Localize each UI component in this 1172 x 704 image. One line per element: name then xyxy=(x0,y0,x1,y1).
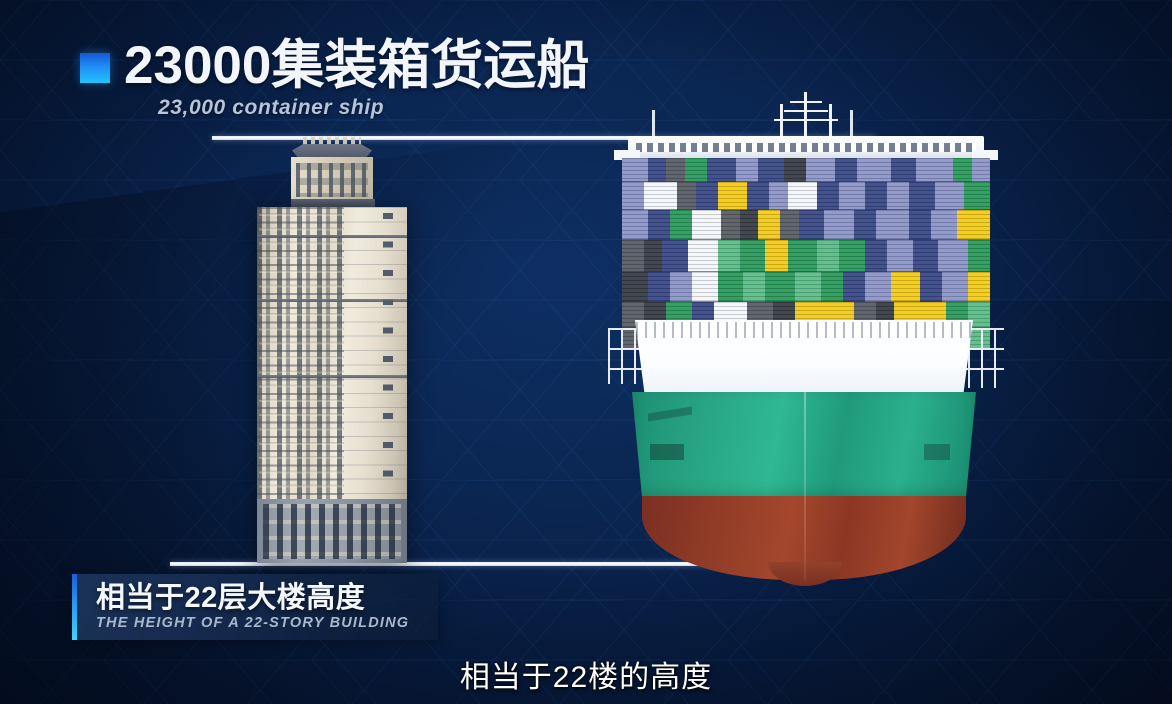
container-box xyxy=(913,240,939,272)
container-box xyxy=(865,240,887,272)
container-box xyxy=(788,182,817,210)
container-row xyxy=(622,158,990,182)
container-box xyxy=(942,272,968,302)
container-box xyxy=(758,210,780,240)
container-box xyxy=(876,210,909,240)
ship-stem-centerline xyxy=(804,390,806,580)
container-box xyxy=(696,182,718,210)
container-box xyxy=(692,210,721,240)
container-box xyxy=(622,182,644,210)
container-box xyxy=(622,210,648,240)
container-box xyxy=(968,240,990,272)
container-box xyxy=(865,182,887,210)
container-box xyxy=(784,158,806,182)
container-box xyxy=(677,182,695,210)
container-box xyxy=(824,210,853,240)
container-box xyxy=(953,158,971,182)
container-box xyxy=(843,272,865,302)
container-box xyxy=(931,210,957,240)
container-box xyxy=(747,182,769,210)
container-box xyxy=(648,158,666,182)
container-box xyxy=(670,272,692,302)
container-box xyxy=(718,272,744,302)
container-box xyxy=(891,158,917,182)
container-box xyxy=(644,240,662,272)
container-row xyxy=(622,272,990,302)
caption-title: 相当于22层大楼高度 xyxy=(96,583,409,614)
building-band xyxy=(257,235,407,238)
container-box xyxy=(865,272,891,302)
residential-building-illustration xyxy=(251,144,413,563)
container-box xyxy=(920,272,942,302)
container-box xyxy=(736,158,758,182)
container-box xyxy=(835,158,857,182)
container-box xyxy=(972,158,990,182)
container-box xyxy=(718,240,740,272)
container-ship-illustration xyxy=(600,92,1010,563)
container-box xyxy=(817,240,839,272)
container-box xyxy=(622,158,648,182)
container-box xyxy=(622,272,648,302)
container-box xyxy=(938,240,967,272)
container-box xyxy=(769,182,787,210)
ship-hull-markings xyxy=(650,444,950,460)
container-box xyxy=(935,182,964,210)
caption-subtitle-english: THE HEIGHT OF A 22-STORY BUILDING xyxy=(96,615,409,631)
container-box xyxy=(968,272,990,302)
container-box xyxy=(795,272,821,302)
ship-mast-icon xyxy=(760,92,852,140)
building-podium-base xyxy=(257,499,407,563)
container-box xyxy=(685,158,707,182)
container-box xyxy=(765,272,794,302)
container-box xyxy=(887,182,909,210)
container-box xyxy=(758,158,784,182)
container-box xyxy=(857,158,890,182)
infographic-stage: 23000集装箱货运船 23,000 container ship xyxy=(0,0,1172,704)
caption-banner: 相当于22层大楼高度 THE HEIGHT OF A 22-STORY BUIL… xyxy=(72,574,438,640)
container-box xyxy=(692,272,718,302)
container-row xyxy=(622,240,990,272)
container-box xyxy=(670,210,692,240)
container-box xyxy=(909,182,935,210)
container-box xyxy=(916,158,953,182)
container-box xyxy=(799,210,825,240)
page-title-block: 23000集装箱货运船 23,000 container ship xyxy=(80,38,589,120)
building-penthouse xyxy=(291,157,373,204)
video-subtitle: 相当于22楼的高度 xyxy=(0,652,1172,696)
container-box xyxy=(662,240,688,272)
container-box xyxy=(688,240,717,272)
container-box xyxy=(648,272,670,302)
container-box xyxy=(891,272,920,302)
container-box xyxy=(821,272,843,302)
building-tower-body xyxy=(257,207,407,563)
container-box xyxy=(957,210,990,240)
container-row xyxy=(622,182,990,210)
container-box xyxy=(788,240,817,272)
page-subtitle-english: 23,000 container ship xyxy=(158,96,589,120)
container-box xyxy=(721,210,739,240)
container-box xyxy=(817,182,839,210)
container-box xyxy=(666,158,684,182)
container-box xyxy=(887,240,913,272)
ship-forecastle-rail xyxy=(636,322,972,338)
container-box xyxy=(648,210,670,240)
container-box xyxy=(644,182,677,210)
container-row xyxy=(622,210,990,240)
container-box xyxy=(743,272,765,302)
page-title: 23000集装箱货运船 xyxy=(124,38,589,94)
ship-bridge-superstructure xyxy=(628,136,984,158)
container-box xyxy=(740,210,758,240)
container-box xyxy=(839,240,865,272)
container-box xyxy=(765,240,787,272)
blue-square-marker-icon xyxy=(80,53,110,83)
container-box xyxy=(909,210,931,240)
caption-texts: 相当于22层大楼高度 THE HEIGHT OF A 22-STORY BUIL… xyxy=(77,583,409,631)
container-box xyxy=(964,182,990,210)
container-box xyxy=(707,158,736,182)
container-box xyxy=(839,182,865,210)
title-texts: 23000集装箱货运船 23,000 container ship xyxy=(124,38,589,120)
building-band xyxy=(257,375,407,378)
container-box xyxy=(780,210,798,240)
building-band xyxy=(257,299,407,302)
container-box xyxy=(854,210,876,240)
container-box xyxy=(718,182,747,210)
container-box xyxy=(740,240,766,272)
container-box xyxy=(806,158,835,182)
container-box xyxy=(622,240,644,272)
